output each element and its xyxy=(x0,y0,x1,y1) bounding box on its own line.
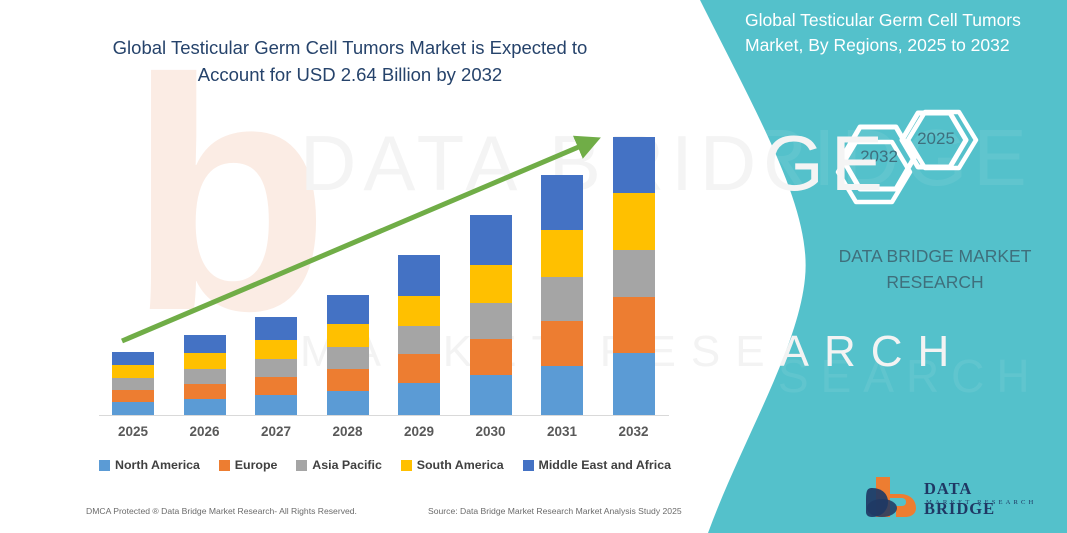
bar-segment xyxy=(255,377,297,395)
footer-copyright: DMCA Protected ® Data Bridge Market Rese… xyxy=(86,506,357,516)
bar-segment xyxy=(255,317,297,340)
x-axis-label: 2025 xyxy=(98,424,168,439)
chart-area: b DATA BRIDGE MARKET RESEARCH Global Tes… xyxy=(0,0,700,533)
legend-swatch xyxy=(401,460,412,471)
legend-swatch xyxy=(523,460,534,471)
bar-segment xyxy=(541,230,583,277)
bar-segment xyxy=(398,354,440,383)
bar-segment xyxy=(398,383,440,415)
bar-segment xyxy=(255,395,297,415)
bar-stack xyxy=(470,215,512,415)
bar-segment xyxy=(112,390,154,402)
right-panel-title: Global Testicular Germ Cell Tumors Marke… xyxy=(745,8,1045,58)
x-axis-label: 2030 xyxy=(456,424,526,439)
legend-label: Europe xyxy=(235,458,278,472)
teal-watermark-line2: RESEARCH xyxy=(690,350,1042,402)
bar-segment xyxy=(541,175,583,230)
bar-segment xyxy=(327,347,369,369)
bar-segment xyxy=(541,366,583,415)
bar-segment xyxy=(470,265,512,303)
bar-segment xyxy=(327,295,369,324)
hexagon-label-2032: 2032 xyxy=(845,147,913,167)
bar-stack xyxy=(327,295,369,415)
bar-stack xyxy=(613,137,655,415)
chart-legend: North AmericaEuropeAsia PacificSouth Ame… xyxy=(99,455,671,475)
bar-segment xyxy=(470,339,512,375)
bar-segment xyxy=(184,384,226,399)
bar-segment xyxy=(327,369,369,391)
logo-mark-icon xyxy=(866,474,922,518)
bar-segment xyxy=(613,353,655,415)
infographic-root: BRIDGE RESEARCH 2032 2025 Global Testicu… xyxy=(0,0,1067,533)
x-axis-label: 2026 xyxy=(170,424,240,439)
bar-segment xyxy=(184,353,226,369)
bar-segment xyxy=(184,399,226,415)
legend-swatch xyxy=(99,460,110,471)
bar-segment xyxy=(112,378,154,390)
x-axis-label: 2029 xyxy=(384,424,454,439)
bar-segment xyxy=(184,335,226,353)
x-axis-labels: 20252026202720282029203020312032 xyxy=(99,424,669,446)
bar-segment xyxy=(112,365,154,378)
bar-stack xyxy=(112,352,154,415)
x-axis-label: 2032 xyxy=(599,424,669,439)
bar-segment xyxy=(613,250,655,297)
x-axis-label: 2028 xyxy=(313,424,383,439)
legend-swatch xyxy=(219,460,230,471)
bar-stack xyxy=(541,175,583,415)
bar-segment xyxy=(398,296,440,326)
bar-segment xyxy=(398,326,440,354)
legend-label: Middle East and Africa xyxy=(539,458,671,472)
legend-item[interactable]: Middle East and Africa xyxy=(523,458,671,472)
footer-source: Source: Data Bridge Market Research Mark… xyxy=(428,506,682,516)
hexagon-labels: 2032 2025 xyxy=(830,100,1045,215)
chart-baseline xyxy=(99,415,669,416)
legend-swatch xyxy=(296,460,307,471)
legend-label: Asia Pacific xyxy=(312,458,382,472)
logo-subtext: MARKET RESEARCH xyxy=(926,499,1036,506)
bar-stack xyxy=(255,317,297,415)
bar-segment xyxy=(112,352,154,365)
bar-segment xyxy=(470,375,512,415)
bar-segment xyxy=(541,277,583,321)
chart-footer: DMCA Protected ® Data Bridge Market Rese… xyxy=(0,506,700,526)
bar-segment xyxy=(112,402,154,415)
legend-item[interactable]: Europe xyxy=(219,458,278,472)
bar-segment xyxy=(327,391,369,415)
data-bridge-logo: DATA BRIDGE MARKET RESEARCH xyxy=(866,474,1046,522)
legend-label: North America xyxy=(115,458,200,472)
bar-segment xyxy=(541,321,583,366)
x-axis-label: 2031 xyxy=(527,424,597,439)
bar-segment xyxy=(613,137,655,193)
legend-label: South America xyxy=(417,458,504,472)
bar-segment xyxy=(184,369,226,384)
hexagon-label-2025: 2025 xyxy=(905,129,967,149)
bar-segment xyxy=(613,297,655,353)
legend-item[interactable]: South America xyxy=(401,458,504,472)
x-axis-label: 2027 xyxy=(241,424,311,439)
bar-segment xyxy=(398,255,440,296)
bar-chart-plot xyxy=(0,0,700,533)
legend-item[interactable]: Asia Pacific xyxy=(296,458,382,472)
bar-segment xyxy=(613,193,655,250)
legend-item[interactable]: North America xyxy=(99,458,200,472)
right-panel-brand: DATA BRIDGE MARKET RESEARCH xyxy=(790,243,1067,295)
bar-segment xyxy=(255,340,297,359)
bar-segment xyxy=(470,303,512,339)
bar-segment xyxy=(327,324,369,347)
bar-stack xyxy=(398,255,440,415)
bar-segment xyxy=(255,359,297,377)
bar-stack xyxy=(184,335,226,415)
bar-segment xyxy=(470,215,512,265)
